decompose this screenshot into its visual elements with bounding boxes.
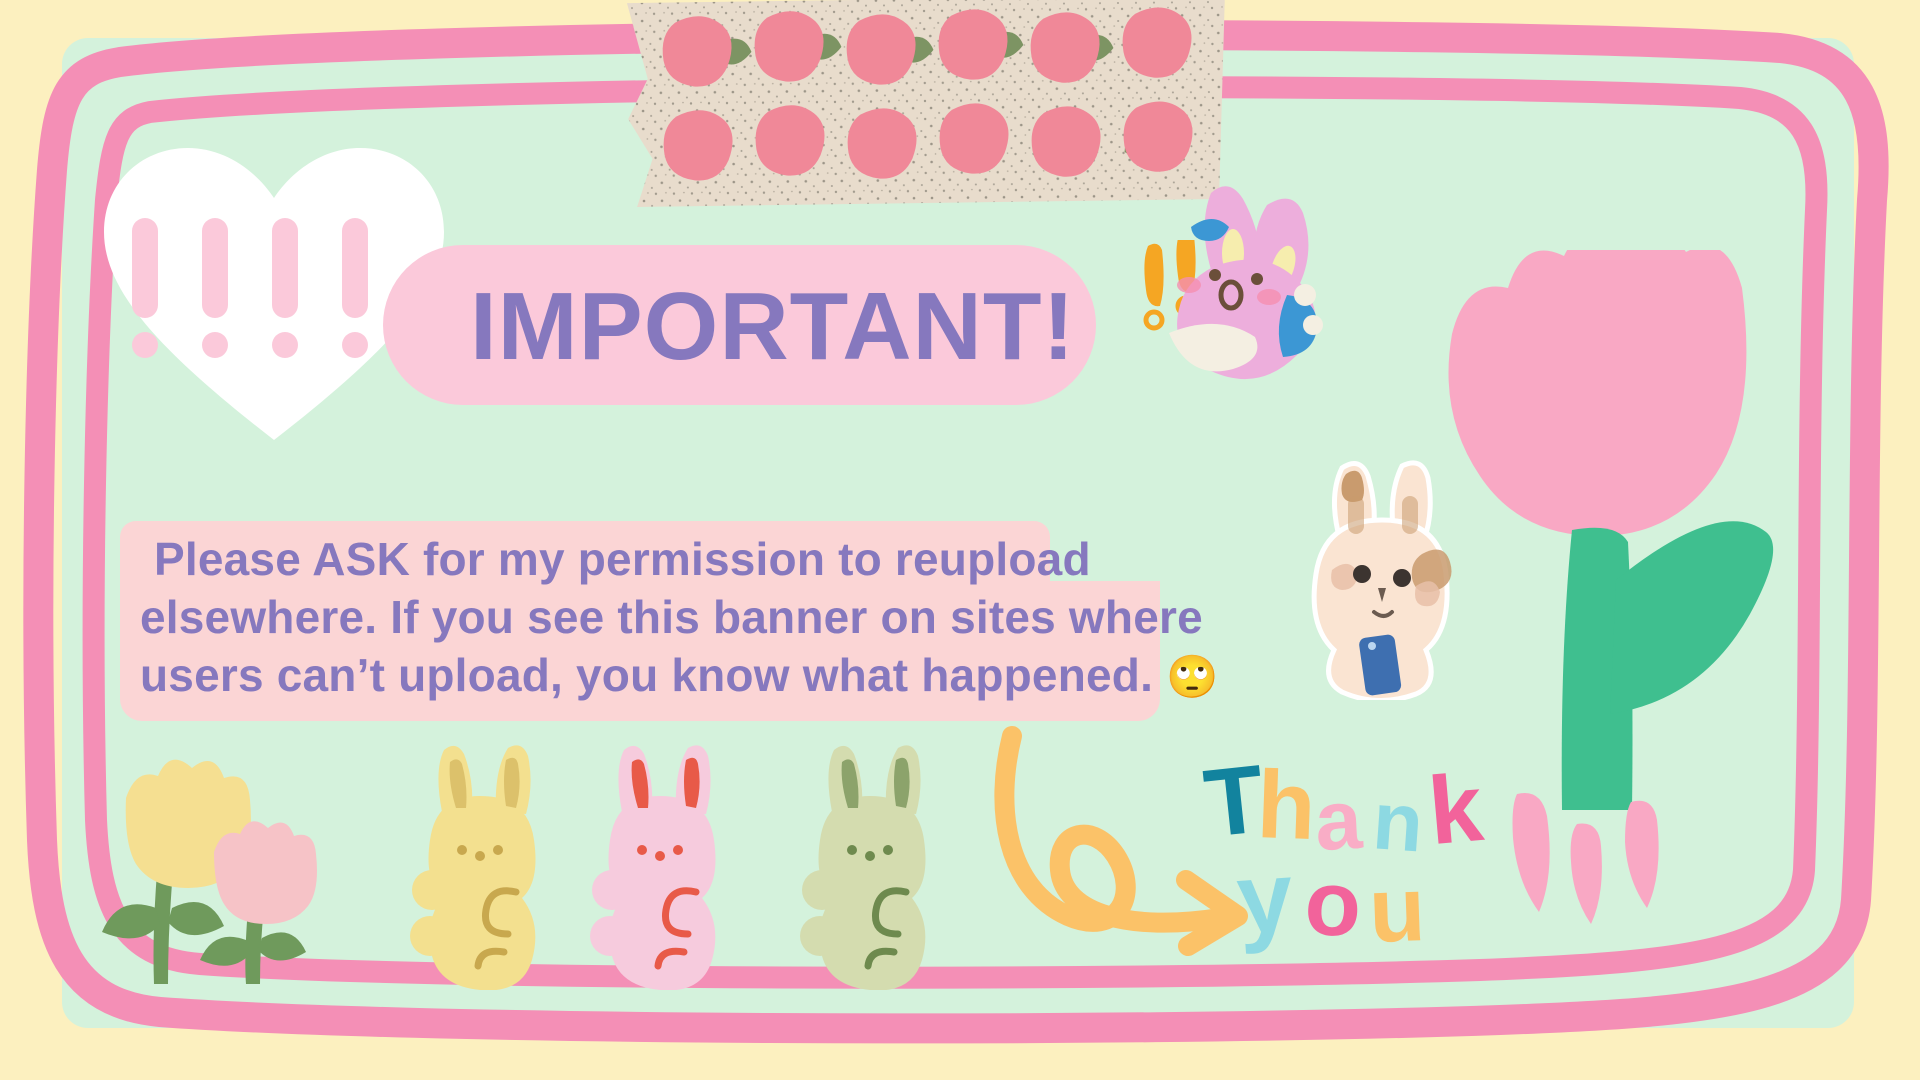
rolling-eyes-emoji: 🙄 [1166, 653, 1219, 700]
body-line-1: Please ASK for my permission to reupload [140, 530, 1200, 588]
body-line-2: elsewhere. If you see this banner on sit… [140, 588, 1200, 646]
page-title: IMPORTANT! [470, 262, 1110, 392]
banner-canvas: IMPORTANT! Please ASK for my permission … [0, 0, 1920, 1080]
body-text: Please ASK for my permission to reupload… [140, 530, 1200, 706]
washi-tape-icon [621, 0, 1233, 211]
body-line-3-text: users can’t upload, you know what happen… [140, 649, 1153, 701]
body-line-3: users can’t upload, you know what happen… [140, 646, 1200, 706]
